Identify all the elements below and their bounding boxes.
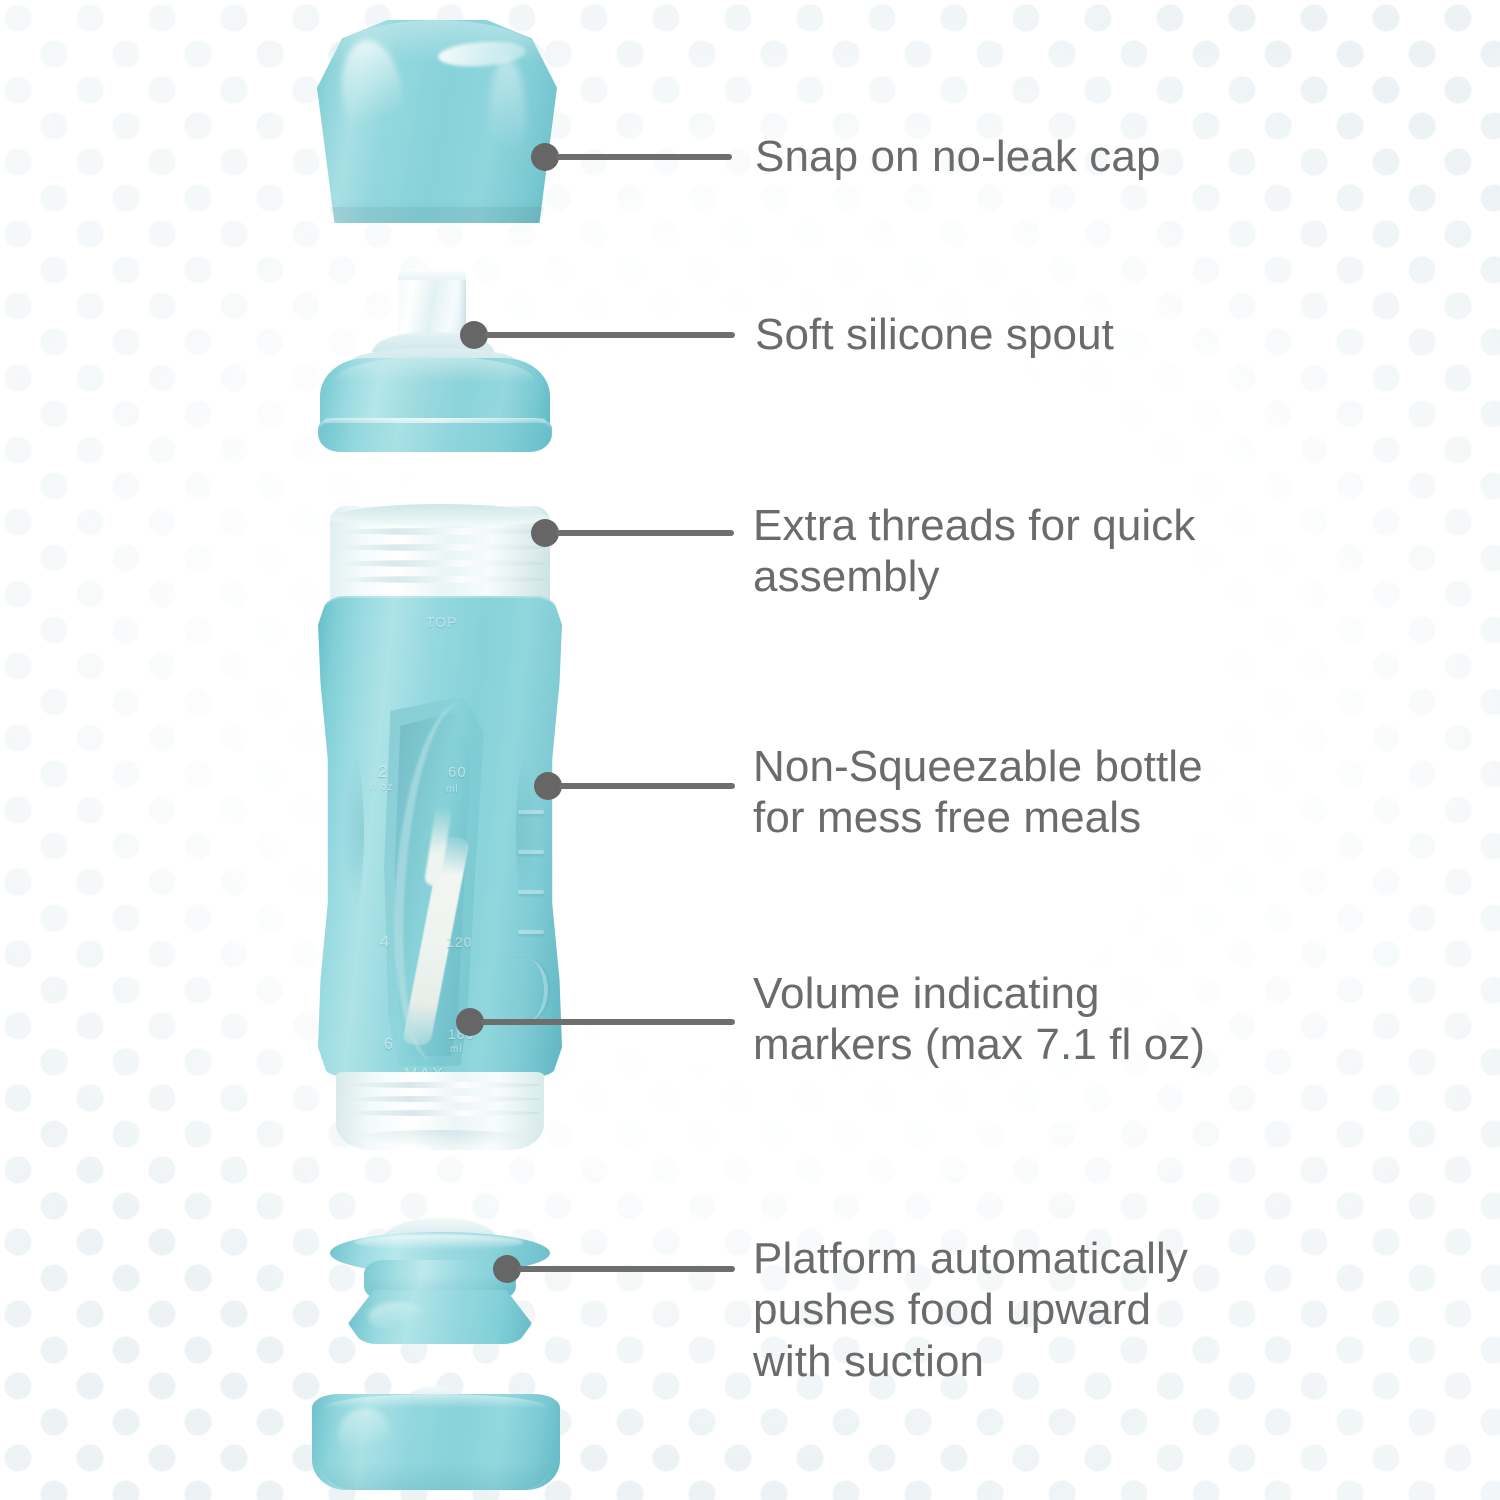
bottle-base-ring-3 — [340, 1110, 540, 1116]
silicone-spout-lid-part — [300, 268, 570, 458]
suction-platform-part — [320, 1218, 560, 1348]
marking-120-ml: 120 — [446, 934, 472, 950]
bottom-cap-gloss — [338, 1408, 392, 1464]
bottle-thread-4 — [334, 576, 546, 583]
spout-tip-top-edge — [398, 268, 466, 280]
marking-unit-ml-3: ml — [450, 1044, 463, 1055]
sleeve-rib-1 — [518, 810, 544, 814]
bottle-body-part: TOP 2 fl oz 60 ml 4 120 6 180 ml MAX 7.1… — [318, 506, 562, 1152]
callout-label-cap: Snap on no-leak cap — [755, 131, 1161, 182]
callout-dot-spout — [460, 321, 488, 349]
spout-ring-highlight — [324, 418, 546, 423]
spout-lid-collar-ring — [318, 418, 552, 452]
marking-6-oz: 6 — [384, 1036, 394, 1054]
marking-top: TOP — [426, 614, 458, 630]
snap-on-cap-part — [312, 18, 562, 223]
callout-dot-threads — [531, 519, 559, 547]
callout-line-cap — [556, 154, 732, 160]
bottom-cap-part — [312, 1386, 560, 1500]
platform-foot-gloss — [368, 1302, 428, 1332]
callout-label-threads: Extra threads for quick assembly — [753, 500, 1196, 603]
platform-top-gloss — [354, 1234, 524, 1250]
callout-dot-volume — [456, 1008, 484, 1036]
bottle-base-ring-2 — [340, 1096, 540, 1102]
callout-label-volume: Volume indicating markers (max 7.1 fl oz… — [753, 968, 1205, 1071]
sleeve-rib-2 — [518, 850, 544, 854]
marking-4-oz: 4 — [380, 932, 390, 952]
marking-unit-ml-1: ml — [446, 784, 459, 795]
callout-dot-bottle — [534, 772, 562, 800]
sleeve-rib-3 — [518, 890, 544, 894]
cap-gloss-highlight-right — [488, 58, 526, 188]
bottom-cap-bottom-shading — [322, 1462, 550, 1490]
callout-line-platform — [518, 1266, 735, 1272]
callout-label-spout: Soft silicone spout — [755, 309, 1114, 360]
callout-label-bottle: Non-Squeezable bottle for mess free meal… — [753, 741, 1203, 844]
marking-2-oz: 2 — [378, 762, 388, 782]
bottle-thread-2 — [334, 544, 546, 551]
bottle-thread-1 — [334, 528, 546, 535]
callout-dot-cap — [531, 143, 559, 171]
callout-label-platform: Platform automatically pushes food upwar… — [753, 1233, 1188, 1387]
callout-line-spout — [485, 332, 735, 338]
sleeve-rib-4 — [518, 930, 544, 934]
callout-line-volume — [481, 1019, 735, 1025]
callout-line-bottle — [559, 783, 735, 789]
sleeve-grip-indent-right — [516, 716, 568, 946]
bottle-base-ring-1 — [340, 1082, 540, 1088]
callout-dot-platform — [493, 1255, 521, 1283]
marking-60-ml: 60 — [448, 764, 467, 781]
sleeve-grip-indent-left — [312, 716, 364, 946]
marking-unit-oz-1: fl oz — [370, 782, 393, 793]
bottle-base-shadow — [348, 1130, 532, 1148]
product-exploded-diagram: TOP 2 fl oz 60 ml 4 120 6 180 ml MAX 7.1… — [0, 0, 1500, 1500]
callout-line-threads — [556, 530, 734, 536]
cap-bottom-edge — [330, 207, 544, 223]
bottle-thread-3 — [334, 560, 546, 567]
